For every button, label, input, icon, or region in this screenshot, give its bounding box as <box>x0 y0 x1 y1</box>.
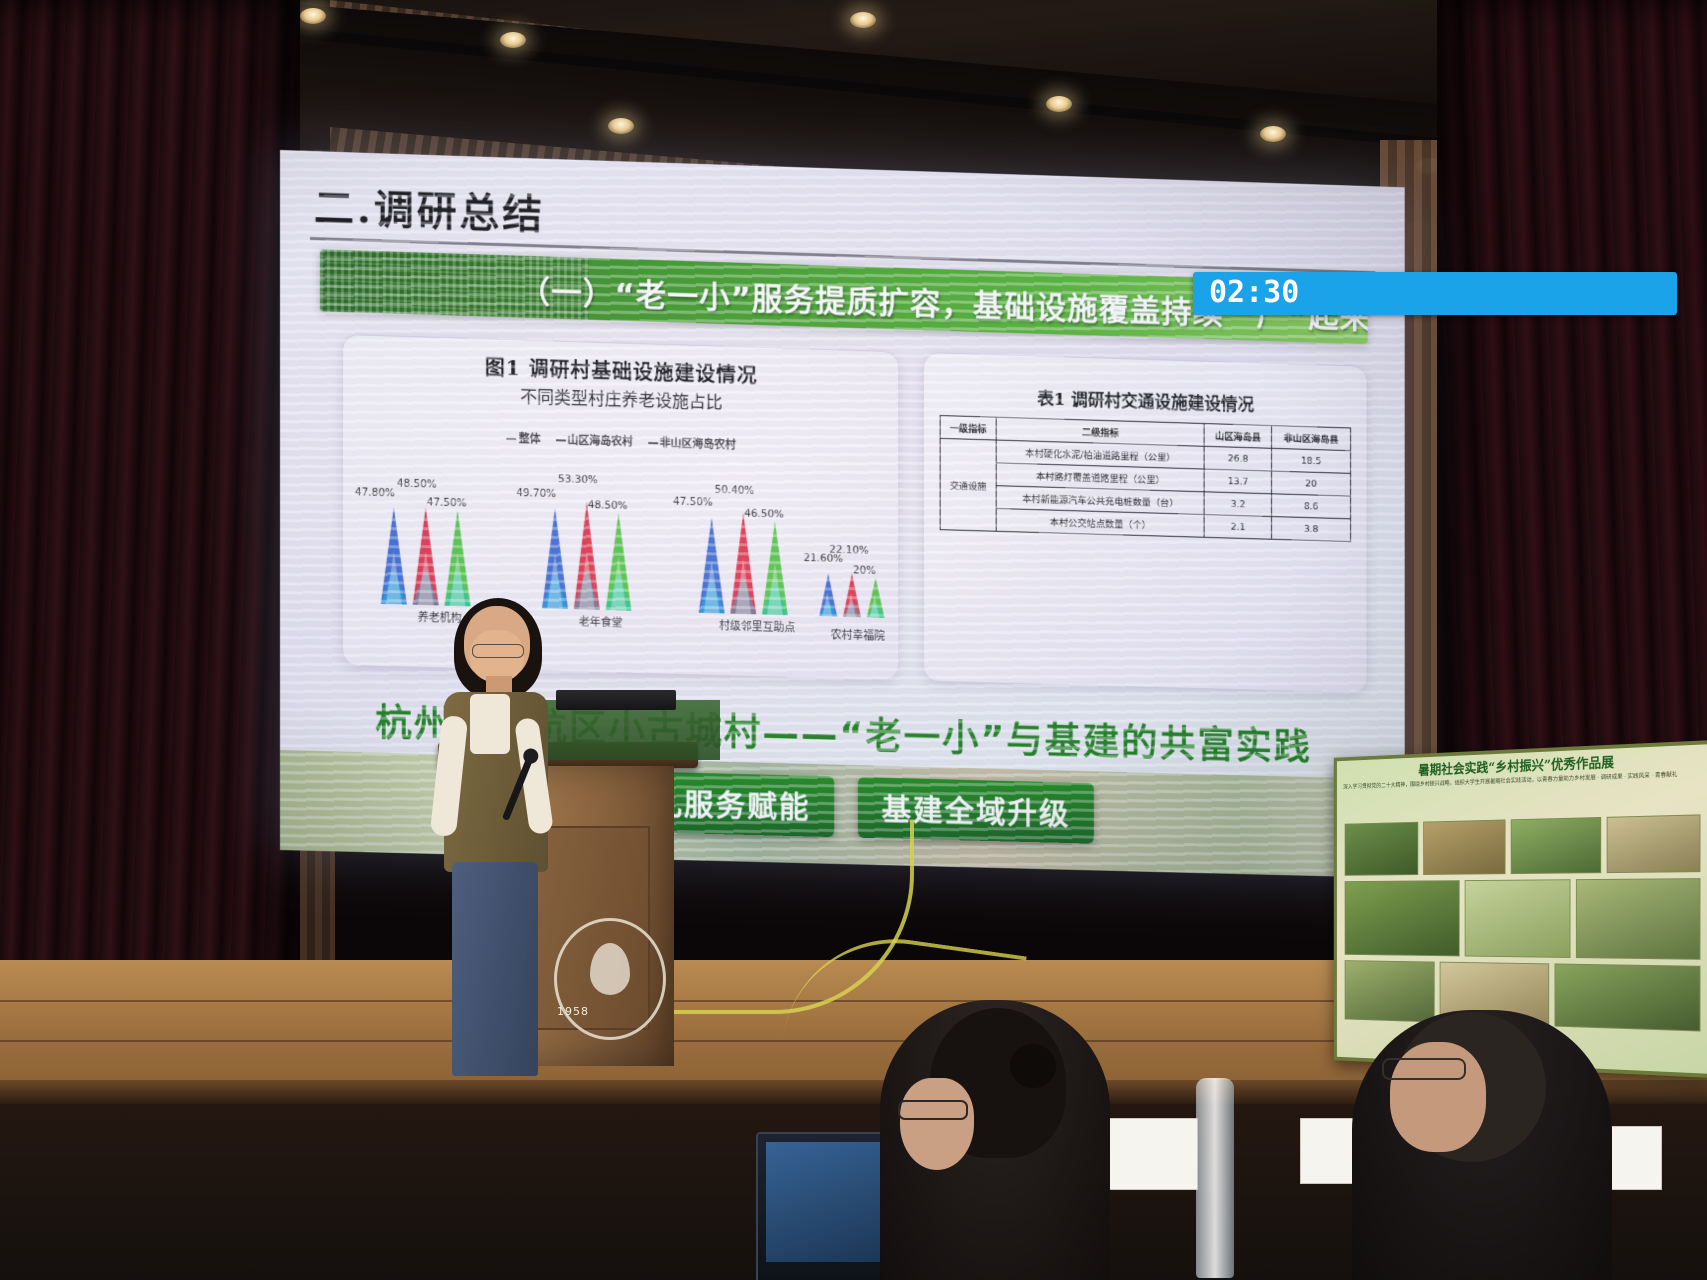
poster-photo <box>1465 879 1571 958</box>
legend-item-0: 整体 <box>507 433 541 446</box>
col-header-0: 一级指标 <box>940 416 996 441</box>
cell-indicator: 本村公交站点数量（个） <box>996 508 1204 537</box>
presenter-glasses-icon <box>472 644 524 658</box>
chart-group <box>542 500 659 611</box>
presenter-trousers <box>452 862 538 1076</box>
countdown-timer: 02:30 <box>1193 272 1677 315</box>
cell-mountain: 2.1 <box>1204 515 1271 540</box>
audience-glasses-icon <box>898 1100 968 1120</box>
chart-cone-2 <box>606 512 632 611</box>
chart-cone-2 <box>867 577 885 618</box>
chart-group <box>699 511 816 616</box>
lectern-laptop <box>556 690 676 710</box>
legend-item-2: 非山区海岛农村 <box>648 437 736 452</box>
ceiling-spotlight <box>608 118 634 134</box>
poster-photo <box>1345 822 1419 876</box>
cell-mountain: 26.8 <box>1204 446 1271 471</box>
chart-value-label: 50.40% <box>715 483 755 496</box>
university-emblem-icon <box>554 918 666 1040</box>
chart-x-label: 农村幸福院 <box>806 626 911 645</box>
cell-nonmountain: 3.8 <box>1272 517 1351 542</box>
chart-cone-0 <box>819 572 837 616</box>
chart-value-label: 22.10% <box>829 544 869 557</box>
poster-photo <box>1554 963 1700 1031</box>
chart-value-label: 48.50% <box>588 499 628 512</box>
poster-photo <box>1423 819 1505 874</box>
chart-cone-1 <box>413 506 439 605</box>
poster-photo <box>1607 814 1701 873</box>
water-bottle <box>1196 1078 1234 1278</box>
chart-group <box>819 571 896 618</box>
chart-group <box>381 505 499 607</box>
chart-cone-1 <box>730 512 756 615</box>
chart-cone-2 <box>762 520 788 615</box>
chart-value-label: 48.50% <box>397 478 437 491</box>
chart-value-label: 49.70% <box>516 487 556 500</box>
chart-cone-0 <box>699 517 725 614</box>
chart-value-label: 20% <box>853 565 876 578</box>
chart-cone-1 <box>843 572 861 617</box>
presenter-shirt <box>470 694 510 754</box>
slide-section-title: 二.调研总结 <box>314 175 545 240</box>
chart-cone-2 <box>445 509 471 606</box>
audience-glasses-icon <box>1382 1058 1466 1080</box>
audience-hair-bun <box>1010 1044 1056 1088</box>
cell-mountain: 13.7 <box>1204 469 1271 494</box>
poster-photo <box>1345 960 1435 1022</box>
ceiling-spotlight <box>500 32 526 48</box>
col-header-2: 山区海岛县 <box>1204 424 1271 449</box>
traffic-infrastructure-table: 一级指标 二级指标 山区海岛县 非山区海岛县 交通设施本村硬化水泥/柏油道路里程… <box>940 415 1351 542</box>
cell-nonmountain: 18.5 <box>1272 448 1351 473</box>
cell-nonmountain: 20 <box>1272 471 1351 496</box>
chart-x-label: 老年食堂 <box>528 612 673 632</box>
chart-value-label: 47.80% <box>355 486 395 499</box>
legend-item-1: 山区海岛农村 <box>556 434 633 448</box>
stage-curtain-left <box>0 0 300 1100</box>
table-panel: 表1 调研村交通设施建设情况 一级指标 二级指标 山区海岛县 非山区海岛县 交通… <box>923 352 1368 694</box>
chart-cone-0 <box>381 507 407 605</box>
chart-cone-1 <box>574 501 600 610</box>
chart-cone-0 <box>542 508 568 609</box>
chart-value-label: 47.50% <box>427 497 467 510</box>
presenter <box>418 606 548 1076</box>
chart-value-label: 46.50% <box>744 508 784 521</box>
audience-face <box>900 1078 974 1170</box>
auditorium-scene: 二.调研总结 （一）“老一小”服务提质扩容，基础设施覆盖持续 “广”起来 图1 … <box>0 0 1707 1280</box>
ceiling-spotlight <box>300 8 326 24</box>
table-group-label: 交通设施 <box>940 438 996 531</box>
table-caption: 表1 调研村交通设施建设情况 <box>924 381 1367 419</box>
cell-nonmountain: 8.6 <box>1272 494 1351 519</box>
chart-value-label: 47.50% <box>673 496 713 509</box>
chart-value-label: 53.30% <box>558 473 598 486</box>
ceiling-spotlight <box>850 12 876 28</box>
poster-photo <box>1345 880 1460 956</box>
poster-photo <box>1576 878 1701 960</box>
col-header-3: 非山区海岛县 <box>1272 426 1351 451</box>
cell-mountain: 3.2 <box>1204 492 1271 517</box>
poster-photo <box>1511 817 1601 874</box>
ceiling-spotlight <box>1260 126 1286 142</box>
ceiling-spotlight <box>1046 96 1072 112</box>
